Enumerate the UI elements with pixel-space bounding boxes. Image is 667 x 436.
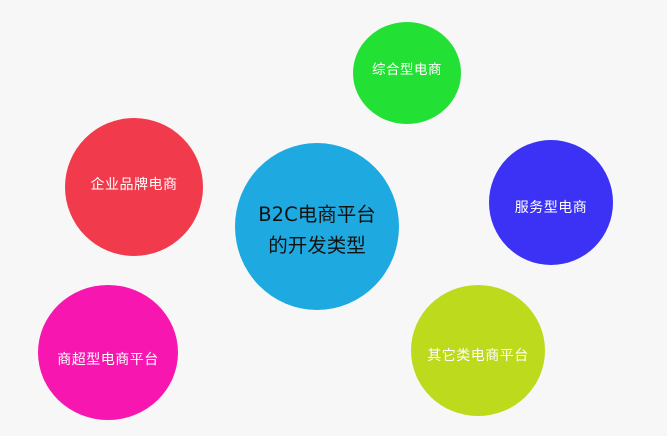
bubble-other-label: 其它类电商平台	[411, 346, 545, 366]
bubble-service-label: 服务型电商	[489, 198, 613, 218]
bubble-center-b2c[interactable]: B2C电商平台 的开发类型	[235, 143, 399, 310]
bubble-supermarket-label: 商超型电商平台	[38, 350, 178, 370]
bubble-comprehensive-label: 综合型电商	[353, 61, 461, 81]
bubble-diagram-canvas: B2C电商平台 的开发类型 综合型电商 企业品牌电商 服务型电商 商超型电商平台…	[0, 0, 667, 436]
bubble-supermarket-platform[interactable]: 商超型电商平台	[38, 285, 178, 420]
bubble-brand-label: 企业品牌电商	[65, 175, 203, 195]
bubble-service-ecommerce[interactable]: 服务型电商	[489, 140, 613, 265]
bubble-center-label: B2C电商平台 的开发类型	[235, 200, 399, 260]
bubble-brand-ecommerce[interactable]: 企业品牌电商	[65, 118, 203, 256]
bubble-comprehensive-ecommerce[interactable]: 综合型电商	[353, 22, 461, 124]
bubble-other-platform[interactable]: 其它类电商平台	[411, 285, 545, 416]
